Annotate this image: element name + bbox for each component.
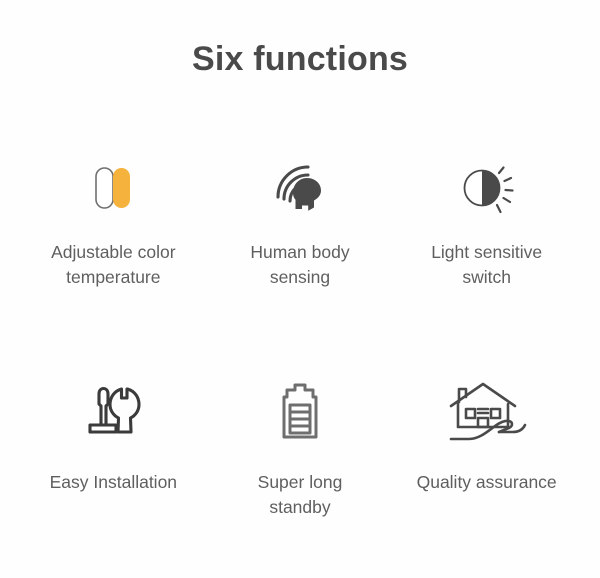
feature-label: Quality assurance — [417, 470, 557, 495]
six-functions-infographic: Six functions Adjustable color temperatu… — [0, 0, 600, 578]
feature-card-light-sensitive-switch[interactable]: Light sensitive switch — [393, 150, 580, 290]
feature-label: Adjustable color temperature — [51, 240, 176, 290]
feature-grid-row-2: Easy Installation Super long standby — [20, 348, 580, 520]
human-body-sensing-icon — [269, 150, 331, 226]
battery-icon — [274, 374, 326, 450]
feature-label: Super long standby — [258, 470, 343, 520]
screwdriver-wrench-icon — [80, 374, 146, 450]
feature-card-easy-installation[interactable]: Easy Installation — [20, 374, 207, 520]
light-sensor-sun-icon — [456, 150, 518, 226]
feature-card-quality-assurance[interactable]: Quality assurance — [393, 374, 580, 520]
feature-card-super-long-standby[interactable]: Super long standby — [207, 374, 394, 520]
page-title: Six functions — [0, 40, 600, 79]
house-in-hand-icon — [445, 374, 529, 450]
feature-card-human-body-sensing[interactable]: Human body sensing — [207, 150, 394, 290]
feature-label: Easy Installation — [50, 470, 177, 495]
feature-label: Human body sensing — [250, 240, 349, 290]
color-temperature-pills-icon — [90, 150, 136, 226]
feature-card-adjustable-color-temperature[interactable]: Adjustable color temperature — [20, 150, 207, 290]
feature-label: Light sensitive switch — [431, 240, 542, 290]
feature-grid: Adjustable color temperature Human body … — [20, 150, 580, 290]
